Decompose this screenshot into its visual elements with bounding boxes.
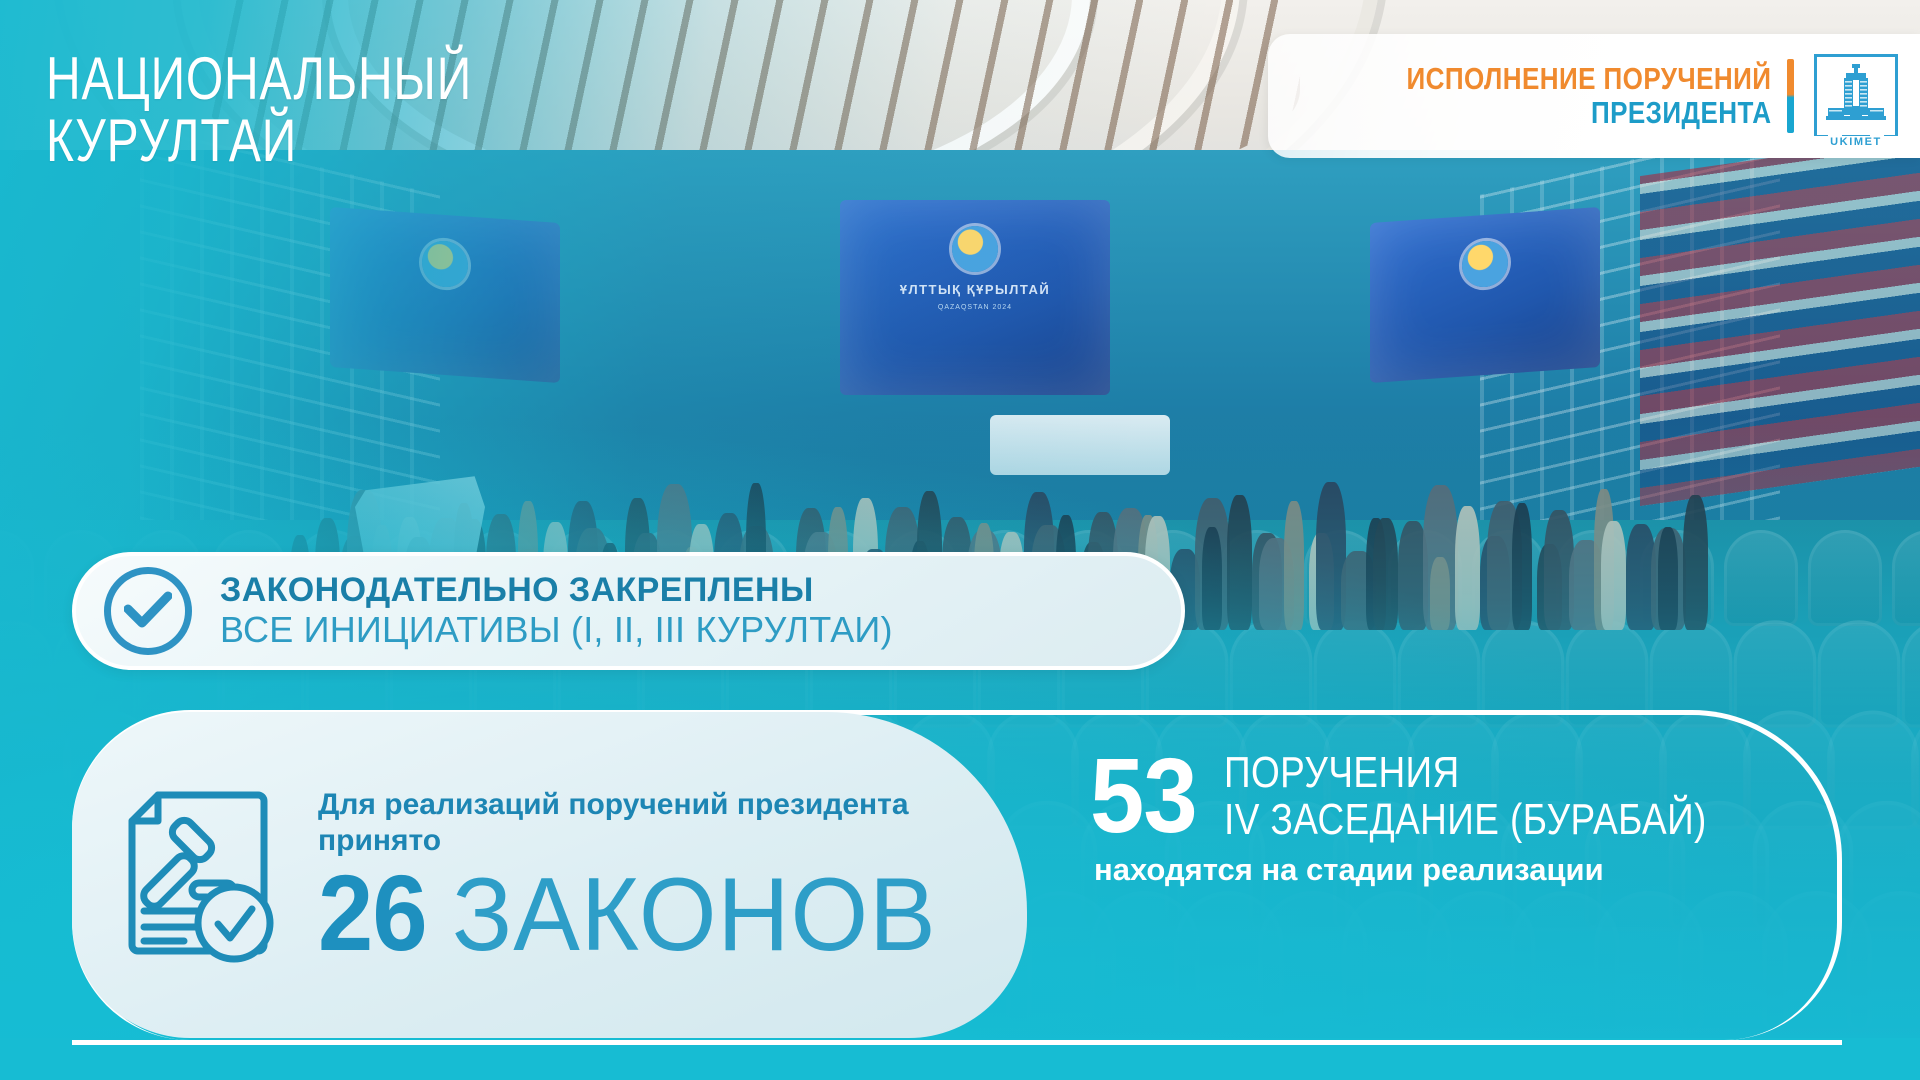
badge-line-president: ПРЕЗИДЕНТА (1406, 96, 1771, 130)
orders-in-progress-block: 53 ПОРУЧЕНИЯ IV ЗАСЕДАНИЕ (БУРАБАЙ) нахо… (1090, 748, 1850, 888)
orders-labels: ПОРУЧЕНИЯ IV ЗАСЕДАНИЕ (БУРАБАЙ) (1224, 748, 1799, 844)
legislation-headline: ЗАКОНОДАТЕЛЬНО ЗАКРЕПЛЕНЫ (220, 571, 893, 609)
page-title: НАЦИОНАЛЬНЫЙ КУРУЛТАЙ (46, 48, 472, 172)
ukimet-logo: UKIMET (1814, 54, 1898, 138)
check-circle-icon (104, 567, 192, 655)
page-title-line1: НАЦИОНАЛЬНЫЙ (46, 48, 472, 110)
page-title-line2: КУРУЛТАЙ (46, 110, 472, 172)
orders-status: находятся на стадии реализации (1094, 852, 1850, 888)
legislation-subline: ВСЕ ИНИЦИАТИВЫ (I, II, III КУРУЛТАИ) (220, 609, 893, 651)
document-gavel-check-icon (118, 783, 288, 968)
orders-unit: ПОРУЧЕНИЯ (1224, 750, 1707, 796)
laws-caption: Для реализаций поручений президента прин… (318, 787, 1027, 859)
infographic-canvas: ҰЛТТЫҚ ҚҰРЫЛТАЙ QAZAQSTAN 2024 НАЦИОНАЛЬ… (0, 0, 1920, 1080)
laws-number: 26 (318, 861, 427, 965)
laws-unit: ЗАКОНОВ (452, 863, 937, 967)
orders-number: 53 (1090, 748, 1197, 844)
government-building-icon (1826, 62, 1886, 124)
legislation-pill-text: ЗАКОНОДАТЕЛЬНО ЗАКРЕПЛЕНЫ ВСЕ ИНИЦИАТИВЫ… (220, 571, 893, 651)
badge-divider (1787, 59, 1794, 133)
legislation-pill: ЗАКОНОДАТЕЛЬНО ЗАКРЕПЛЕНЫ ВСЕ ИНИЦИАТИВЫ… (72, 552, 1185, 670)
ukimet-label: UKIMET (1814, 136, 1898, 149)
checkmark-icon (124, 591, 172, 631)
orders-figure: 53 ПОРУЧЕНИЯ IV ЗАСЕДАНИЕ (БУРАБАЙ) (1090, 748, 1850, 844)
badge-line-orders: ИСПОЛНЕНИЕ ПОРУЧЕНИЙ (1406, 62, 1771, 96)
laws-card-text: Для реализаций поручений президента прин… (318, 787, 1027, 967)
laws-adopted-card: Для реализаций поручений президента прин… (72, 712, 1027, 1038)
document-gavel-check-glyph (118, 783, 288, 963)
program-badge: ИСПОЛНЕНИЕ ПОРУЧЕНИЙ ПРЕЗИДЕНТА (1268, 34, 1920, 158)
laws-figure: 26 ЗАКОНОВ (318, 861, 1027, 967)
program-badge-text: ИСПОЛНЕНИЕ ПОРУЧЕНИЙ ПРЕЗИДЕНТА (1337, 62, 1771, 130)
orders-session: IV ЗАСЕДАНИЕ (БУРАБАЙ) (1224, 796, 1707, 844)
